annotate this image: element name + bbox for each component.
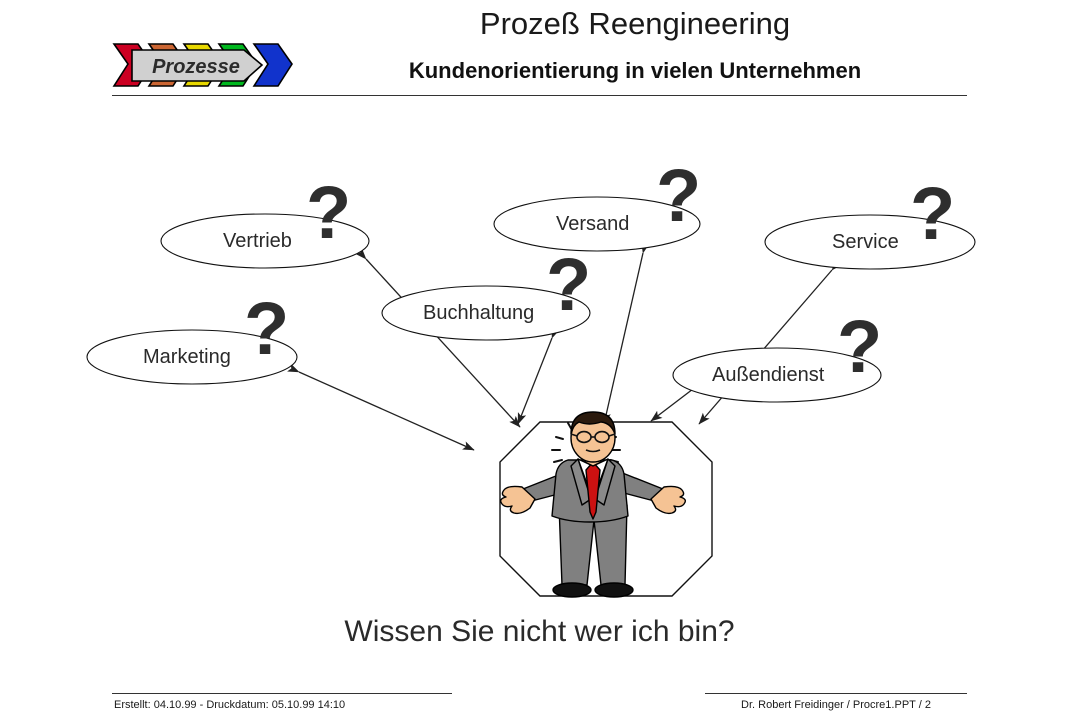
- slide-canvas: Prozesse Prozeß Reengineering Kundenorie…: [0, 0, 1079, 719]
- connector-marketing: [299, 372, 474, 450]
- connector-vertrieb: [366, 259, 520, 427]
- question-mark-icon: ?: [244, 292, 289, 366]
- figure-shoe-right: [595, 583, 633, 597]
- slide-caption: Wissen Sie nicht wer ich bin?: [0, 615, 1079, 649]
- question-mark-icon: ?: [306, 176, 351, 250]
- node-label-aussendienst: Außendienst: [712, 364, 824, 387]
- node-versand[interactable]: Versand ?: [494, 197, 700, 251]
- question-mark-icon: ?: [656, 159, 701, 233]
- node-service[interactable]: Service ?: [765, 215, 975, 269]
- node-buchhaltung[interactable]: Buchhaltung ?: [382, 286, 590, 340]
- node-label-versand: Versand: [556, 213, 629, 236]
- question-mark-icon: ?: [546, 248, 591, 322]
- figure-shoe-left: [553, 583, 591, 597]
- footer-divider-left: [112, 693, 452, 694]
- node-marketing[interactable]: Marketing ?: [87, 330, 297, 384]
- node-vertrieb[interactable]: Vertrieb ?: [161, 214, 369, 268]
- connector-buchhaltung: [518, 338, 552, 424]
- node-label-vertrieb: Vertrieb: [223, 230, 292, 253]
- footer-created-text: Erstellt: 04.10.99 - Druckdatum: 05.10.9…: [114, 699, 345, 711]
- node-label-buchhaltung: Buchhaltung: [423, 302, 534, 325]
- node-aussendienst[interactable]: Außendienst ?: [673, 348, 881, 402]
- question-mark-icon: ?: [910, 177, 955, 251]
- footer-divider-right: [705, 693, 967, 694]
- confused-man-octagon: [500, 412, 712, 597]
- footer-author-text: Dr. Robert Freidinger / Procre1.PPT / 2: [705, 699, 967, 711]
- connector-versand: [604, 253, 643, 424]
- question-mark-icon: ?: [837, 310, 882, 384]
- node-label-marketing: Marketing: [143, 346, 231, 369]
- node-label-service: Service: [832, 231, 899, 254]
